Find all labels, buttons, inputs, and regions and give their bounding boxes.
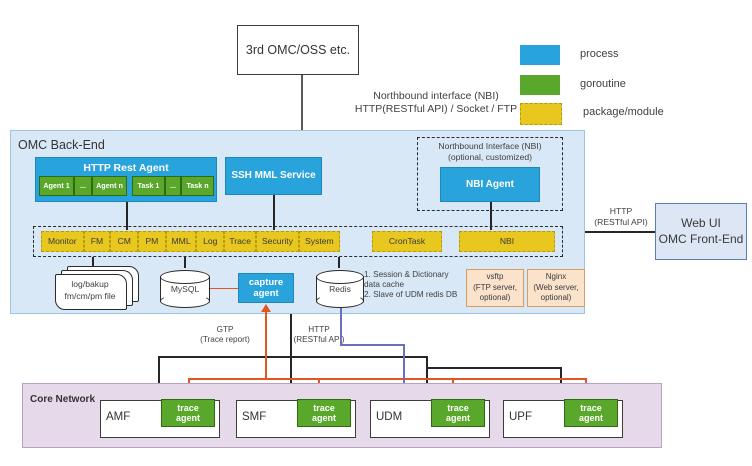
- agent-group: Agent 1 ... Agent n: [39, 176, 127, 196]
- task-n: Task n: [181, 176, 214, 196]
- webui-link-line2: (RESTful API): [590, 217, 652, 227]
- trace-agent-udm-line2: agent: [446, 413, 470, 423]
- module-system: System: [299, 231, 340, 252]
- http-line1: HTTP: [280, 325, 358, 334]
- nf-smf-label: SMF: [242, 411, 266, 423]
- gtp-link-label: GTP (Trace report): [188, 325, 262, 344]
- node-3rd-omc-oss-label: 3rd OMC/OSS etc.: [246, 43, 350, 57]
- redis-note-line2: data cache: [364, 280, 470, 289]
- connector-modules-http-down-stub: [290, 314, 292, 356]
- legend-label-process: process: [580, 48, 619, 60]
- connector-redis-horizontal: [340, 344, 404, 346]
- module-group-core: Monitor FM CM PM MML Log Trace Security …: [41, 231, 340, 252]
- nginx-line1: Nginx: [546, 272, 566, 282]
- trace-agent-udm-line1: trace: [447, 403, 469, 413]
- trace-agent-smf: trace agent: [297, 399, 351, 427]
- capture-agent-line2: agent: [253, 288, 278, 299]
- nbi-group-line1: Northbound Interface (NBI): [417, 141, 563, 151]
- legend-swatch-goroutine: [520, 75, 560, 95]
- trace-agent-amf: trace agent: [161, 399, 215, 427]
- file-line1: log/bakup: [71, 279, 108, 291]
- redis-database: Redis: [316, 270, 364, 308]
- agent-ellipsis: ...: [74, 176, 92, 196]
- connector-nbi-vertical: [301, 75, 303, 131]
- trace-agent-upf-line1: trace: [580, 403, 602, 413]
- module-mml: MML: [166, 231, 197, 252]
- node-3rd-omc-oss: 3rd OMC/OSS etc.: [237, 25, 359, 75]
- trace-agent-smf-line2: agent: [312, 413, 336, 423]
- nginx-line2: (Web server,: [533, 283, 578, 293]
- connector-redis-down: [340, 308, 342, 344]
- trace-agent-smf-line1: trace: [313, 403, 335, 413]
- vsftp-line1: vsftp: [487, 272, 504, 282]
- agent-1: Agent 1: [39, 176, 74, 196]
- trace-agent-upf: trace agent: [564, 399, 618, 427]
- nf-upf-label: UPF: [509, 411, 532, 423]
- trace-agent-amf-line2: agent: [176, 413, 200, 423]
- http-line2: (RESTful API): [280, 335, 358, 344]
- arrow-orange-capture-agent: [261, 304, 271, 312]
- module-monitor: Monitor: [41, 231, 84, 252]
- file-line2: fm/cm/pm file: [64, 291, 115, 303]
- connector-modules-to-mysql: [184, 257, 186, 268]
- ssh-mml-service-box: SSH MML Service: [225, 157, 322, 195]
- mysql-database: MySQL: [160, 270, 210, 308]
- trace-agent-upf-line2: agent: [579, 413, 603, 423]
- web-ui-box: Web UI OMC Front-End: [655, 203, 747, 260]
- capture-agent-box: capture agent: [238, 273, 294, 303]
- legend-swatch-process: [520, 45, 560, 65]
- architecture-diagram: 3rd OMC/OSS etc. Northbound interface (N…: [0, 0, 752, 466]
- gtp-line2: (Trace report): [188, 335, 262, 344]
- nf-udm-label: UDM: [376, 411, 402, 423]
- capture-agent-line1: capture: [249, 277, 283, 288]
- vsftp-box: vsftp (FTP server, optional): [466, 269, 524, 307]
- webui-link-label: HTTP (RESTful API): [590, 206, 652, 227]
- module-log: Log: [196, 231, 224, 252]
- connector-modules-to-redis: [338, 257, 340, 268]
- web-ui-line2: OMC Front-End: [659, 232, 744, 248]
- bus-orange-horizontal: [188, 378, 585, 380]
- web-ui-line1: Web UI: [681, 216, 721, 232]
- bus-black-horizontal: [158, 356, 426, 358]
- redis-label: Redis: [316, 270, 364, 308]
- module-pm: PM: [138, 231, 166, 252]
- agent-n: Agent n: [92, 176, 127, 196]
- legend-label-goroutine: goroutine: [580, 78, 626, 90]
- vsftp-line3: optional): [480, 293, 511, 303]
- nginx-box: Nginx (Web server, optional): [527, 269, 585, 307]
- trace-agent-udm: trace agent: [431, 399, 485, 427]
- module-crontask: CronTask: [372, 231, 442, 252]
- redis-note-line1: 1. Session & Dictionary: [364, 270, 470, 279]
- nf-amf-label: AMF: [106, 411, 130, 423]
- riser-orange-to-capture-agent: [265, 312, 267, 379]
- legend: process goroutine package/module: [520, 40, 745, 125]
- redis-notes: 1. Session & Dictionary data cache 2. Sl…: [364, 270, 470, 299]
- redis-note-line3: 2. Slave of UDM redis DB: [364, 290, 470, 299]
- connector-ssh-mml-to-modules: [273, 195, 275, 230]
- legend-label-module: package/module: [583, 106, 664, 118]
- mysql-label: MySQL: [160, 270, 210, 308]
- nbi-agent-box: NBI Agent: [440, 167, 540, 202]
- omc-backend-title: OMC Back-End: [18, 136, 105, 154]
- nbi-group-line2: (optional, customized): [417, 152, 563, 162]
- task-ellipsis: ...: [165, 176, 181, 196]
- connector-backend-to-webui: [585, 231, 655, 233]
- http-link-label: HTTP (RESTful API): [280, 325, 358, 344]
- webui-link-line1: HTTP: [590, 206, 652, 216]
- task-group: Task 1 ... Task n: [132, 176, 214, 196]
- core-network-title: Core Network: [30, 389, 95, 407]
- module-fm: FM: [84, 231, 111, 252]
- vsftp-line2: (FTP server,: [473, 283, 517, 293]
- module-trace: Trace: [224, 231, 256, 252]
- module-security: Security: [256, 231, 299, 252]
- module-nbi: NBI: [459, 231, 555, 252]
- module-cm: CM: [110, 231, 138, 252]
- connector-mysql-to-capture-agent: [210, 288, 239, 289]
- nbi-group-label: Northbound Interface (NBI) (optional, cu…: [417, 141, 563, 162]
- legend-swatch-module: [520, 103, 562, 125]
- trace-agent-amf-line1: trace: [177, 403, 199, 413]
- task-1: Task 1: [132, 176, 165, 196]
- http-rest-agent-title: HTTP Rest Agent: [36, 160, 216, 176]
- ssh-mml-service-label: SSH MML Service: [231, 170, 315, 182]
- log-backup-file-label: log/bakup fm/cm/pm file: [55, 274, 125, 308]
- log-backup-file-stack: log/bakup fm/cm/pm file: [55, 266, 139, 310]
- gtp-line1: GTP: [188, 325, 262, 334]
- bus-black-horizontal-2: [426, 367, 562, 369]
- nginx-line3: optional): [541, 293, 572, 303]
- nbi-agent-label: NBI Agent: [466, 179, 514, 191]
